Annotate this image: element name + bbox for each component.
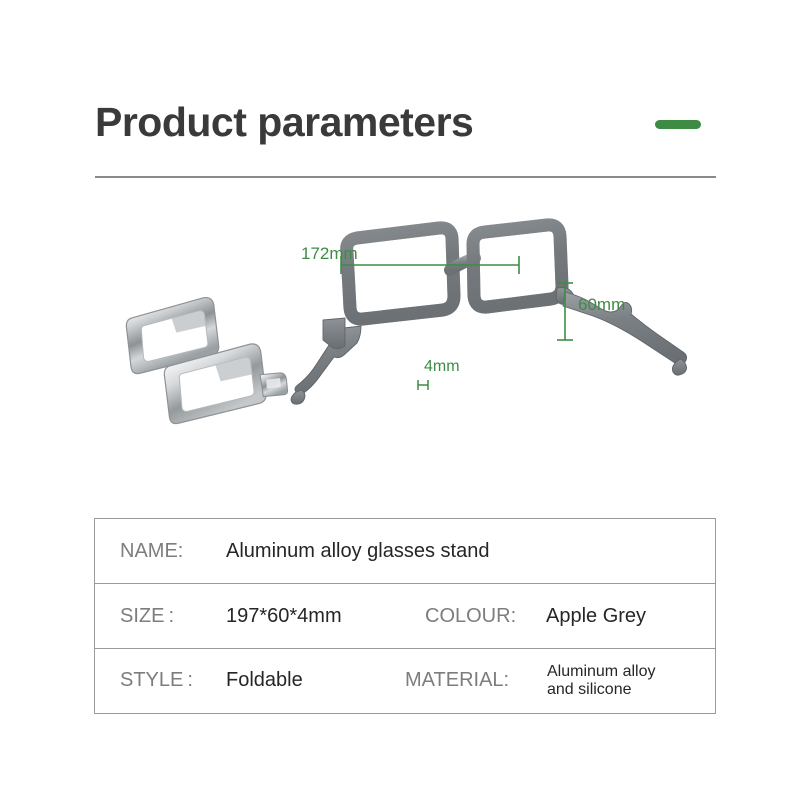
spec-label-colour: COLOUR: bbox=[425, 605, 516, 628]
table-row: SIZE : 197*60*4mm COLOUR: Apple Grey bbox=[95, 584, 715, 649]
spec-value-name: Aluminum alloy glasses stand bbox=[226, 540, 489, 563]
folded-stand-graphic bbox=[121, 296, 291, 425]
stand-foot bbox=[323, 318, 345, 349]
product-illustration: 172mm 60mm 4mm bbox=[95, 200, 716, 500]
table-row: STYLE : Foldable MATERIAL: Aluminum allo… bbox=[95, 649, 715, 712]
spec-value-colour: Apple Grey bbox=[546, 605, 646, 628]
spec-label-size: SIZE : bbox=[120, 605, 174, 628]
spec-value-size: 197*60*4mm bbox=[226, 605, 342, 628]
left-lens-frame bbox=[347, 228, 454, 319]
dimension-label-height: 60mm bbox=[578, 295, 625, 315]
spec-label-name: NAME: bbox=[120, 540, 183, 563]
dimension-172mm bbox=[341, 256, 519, 274]
page-title: Product parameters bbox=[95, 98, 473, 146]
dimension-label-width: 172mm bbox=[301, 244, 358, 264]
dimension-label-thickness: 4mm bbox=[424, 358, 460, 376]
spec-label-material: MATERIAL: bbox=[405, 669, 509, 692]
page-header: Product parameters bbox=[95, 98, 716, 178]
spec-value-material-line1: Aluminum alloy bbox=[547, 663, 697, 681]
spec-value-material-line2: and silicone bbox=[547, 681, 697, 699]
header-divider bbox=[95, 176, 716, 178]
spec-value-style: Foldable bbox=[226, 669, 303, 692]
product-image bbox=[95, 200, 716, 500]
spec-table: NAME: Aluminum alloy glasses stand SIZE … bbox=[94, 518, 716, 714]
right-lens-frame bbox=[473, 225, 562, 307]
spec-value-material: Aluminum alloy and silicone bbox=[547, 663, 697, 699]
spec-label-style: STYLE : bbox=[120, 669, 193, 692]
accent-dash-icon bbox=[655, 120, 701, 129]
product-parameters-page: Product parameters bbox=[0, 0, 800, 800]
table-row: NAME: Aluminum alloy glasses stand bbox=[95, 519, 715, 584]
dimension-4mm bbox=[418, 380, 428, 390]
